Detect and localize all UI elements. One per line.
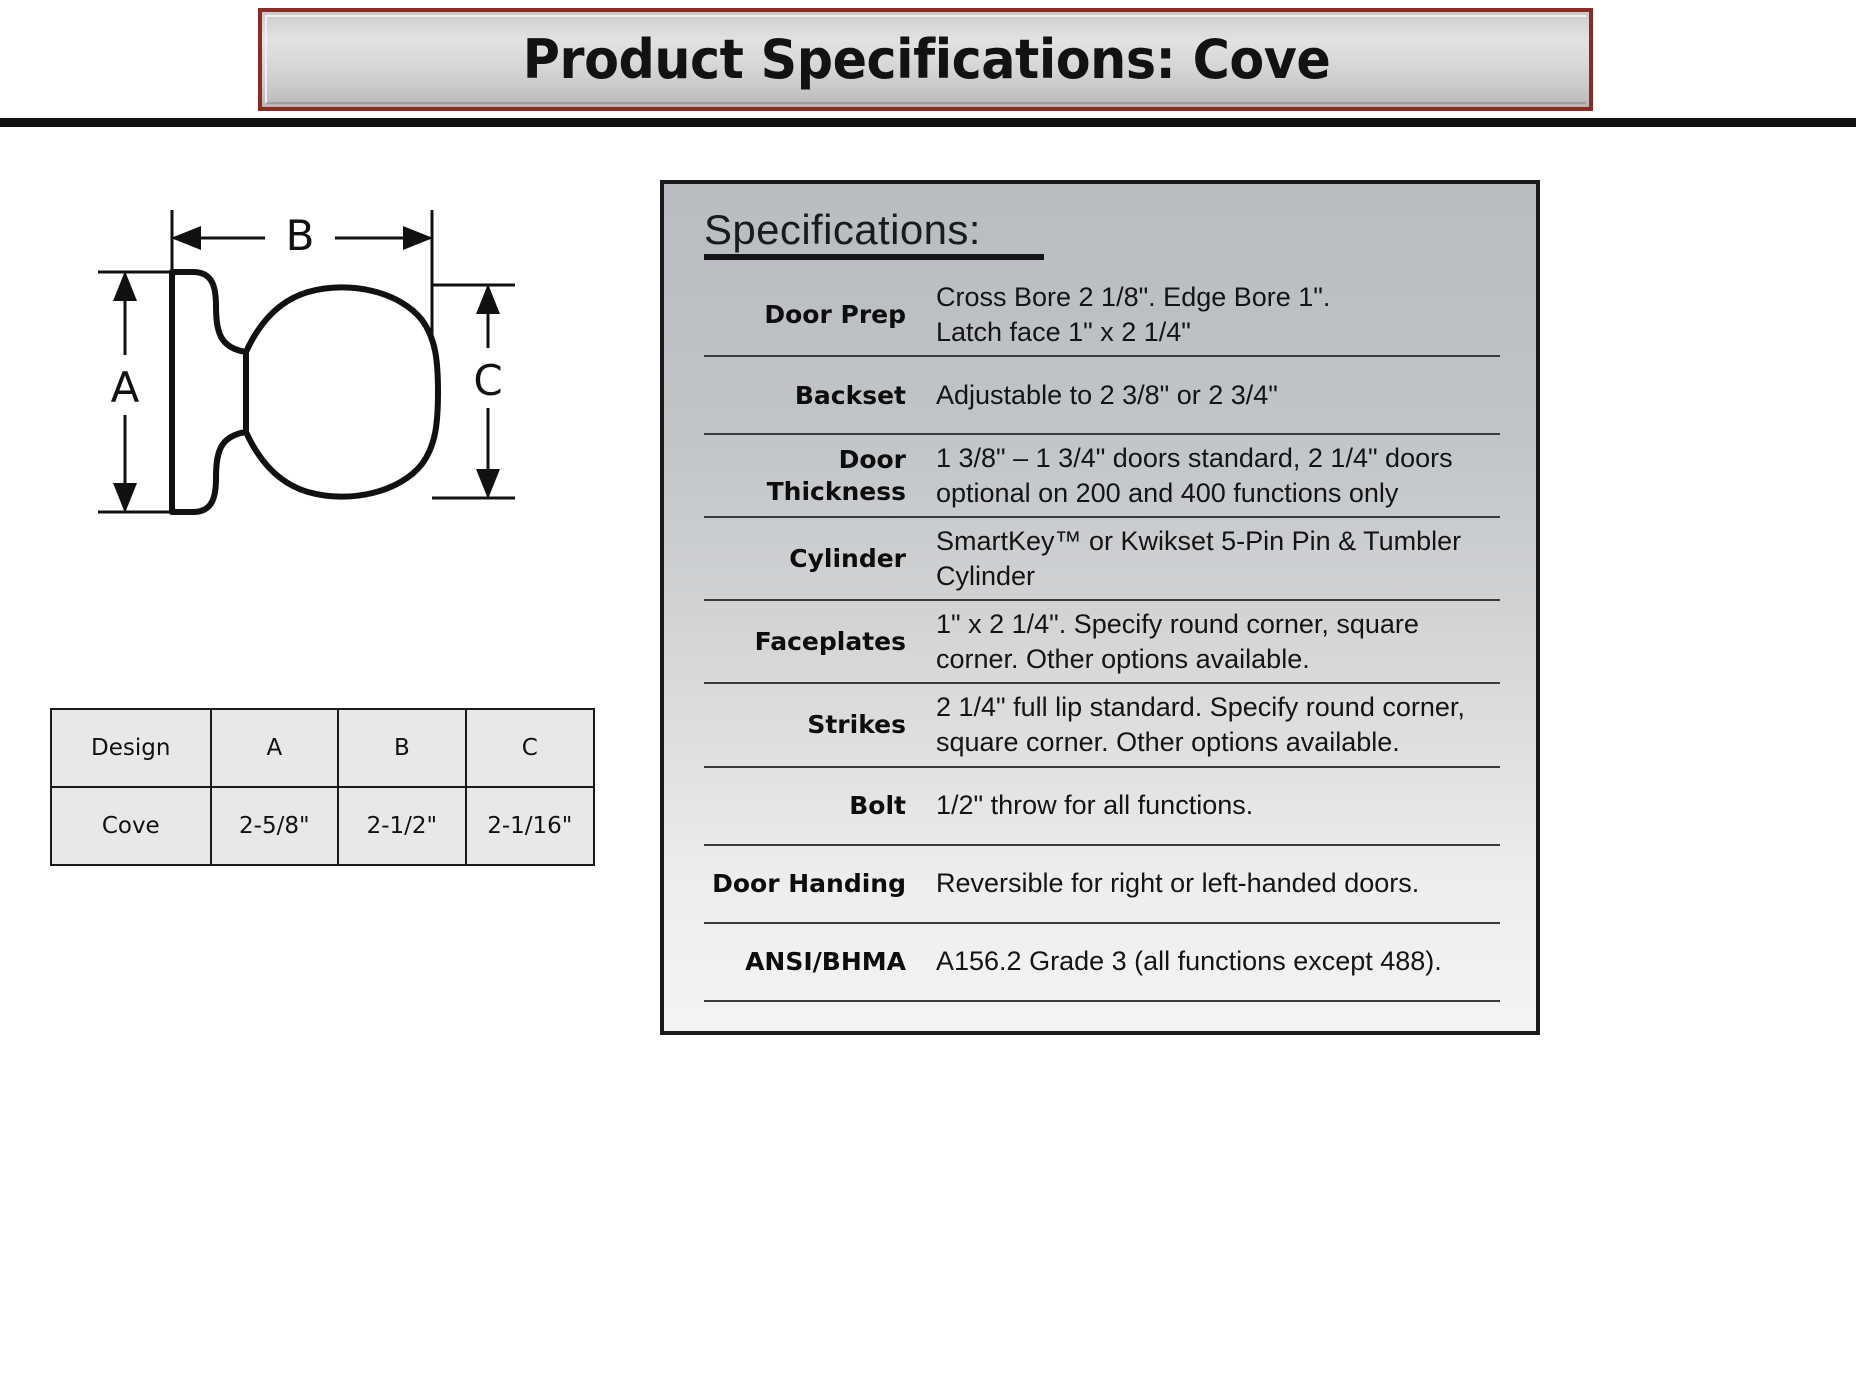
spec-row-door-handing: Door Handing Reversible for right or lef… xyxy=(704,846,1500,924)
column-header-c: C xyxy=(466,709,594,787)
table-header-row: Design A B C xyxy=(51,709,594,787)
spec-value: SmartKey™ or Kwikset 5-Pin Pin & Tumbler… xyxy=(936,524,1500,593)
spec-value: 1 3/8" – 1 3/4" doors standard, 2 1/4" d… xyxy=(936,441,1500,510)
spec-label: Strikes xyxy=(704,709,936,740)
spec-label: Door Handing xyxy=(704,868,936,899)
cell-dimension-b: 2-1/2" xyxy=(338,787,466,865)
cell-design-name: Cove xyxy=(51,787,211,865)
spec-row-strikes: Strikes 2 1/4" full lip standard. Specif… xyxy=(704,684,1500,767)
spec-label: ANSI/BHMA xyxy=(704,946,936,977)
spec-value: 1/2" throw for all functions. xyxy=(936,788,1500,823)
spec-row-bolt: Bolt 1/2" throw for all functions. xyxy=(704,768,1500,846)
dimension-c-group: C xyxy=(432,285,515,498)
spec-row-faceplates: Faceplates 1" x 2 1/4". Specify round co… xyxy=(704,601,1500,684)
spec-label: Cylinder xyxy=(704,543,936,574)
design-dimension-table: Design A B C Cove 2-5/8" 2-1/2" 2-1/16" xyxy=(50,708,595,866)
cell-dimension-c: 2-1/16" xyxy=(466,787,594,865)
spec-value: A156.2 Grade 3 (all functions except 488… xyxy=(936,944,1500,979)
spec-value: Reversible for right or left-handed door… xyxy=(936,866,1500,901)
column-header-a: A xyxy=(211,709,339,787)
title-banner-inner-bevel: Product Specifications: Cove xyxy=(265,15,1586,104)
spec-value: Adjustable to 2 3/8" or 2 3/4" xyxy=(936,378,1500,413)
spec-value: 1" x 2 1/4". Specify round corner, squar… xyxy=(936,607,1500,676)
spec-label: Faceplates xyxy=(704,626,936,657)
spec-row-door-thickness: Door Thickness 1 3/8" – 1 3/4" doors sta… xyxy=(704,435,1500,518)
spec-value: 2 1/4" full lip standard. Specify round … xyxy=(936,690,1500,759)
dimension-label-b: B xyxy=(286,211,315,260)
column-header-design: Design xyxy=(51,709,211,787)
dimension-b-group: B xyxy=(172,210,432,340)
title-banner-container: Product Specifications: Cove xyxy=(258,8,1593,111)
dimension-label-c: C xyxy=(473,356,502,405)
spec-label: Door Thickness xyxy=(704,444,936,507)
spec-value: Cross Bore 2 1/8". Edge Bore 1". Latch f… xyxy=(936,280,1500,349)
specifications-panel: Specifications: Door Prep Cross Bore 2 1… xyxy=(660,180,1540,1035)
spec-label: Backset xyxy=(704,380,936,411)
spec-row-ansi-bhma: ANSI/BHMA A156.2 Grade 3 (all functions … xyxy=(704,924,1500,1002)
knob-cross-section-diagram: B A C xyxy=(60,180,630,580)
knob-profile-outline xyxy=(172,272,438,512)
column-header-b: B xyxy=(338,709,466,787)
specifications-list: Door Prep Cross Bore 2 1/8". Edge Bore 1… xyxy=(704,274,1500,1001)
spec-label: Bolt xyxy=(704,790,936,821)
header-divider-rule xyxy=(0,118,1856,127)
spec-row-backset: Backset Adjustable to 2 3/8" or 2 3/4" xyxy=(704,357,1500,435)
dimension-a-group: A xyxy=(98,272,178,512)
dimension-label-a: A xyxy=(111,363,140,412)
specifications-heading: Specifications: xyxy=(704,208,1044,252)
spec-row-door-prep: Door Prep Cross Bore 2 1/8". Edge Bore 1… xyxy=(704,274,1500,357)
cell-dimension-a: 2-5/8" xyxy=(211,787,339,865)
spec-label: Door Prep xyxy=(704,299,936,330)
page-title: Product Specifications: Cove xyxy=(523,28,1331,91)
table-row: Cove 2-5/8" 2-1/2" 2-1/16" xyxy=(51,787,594,865)
spec-row-cylinder: Cylinder SmartKey™ or Kwikset 5-Pin Pin … xyxy=(704,518,1500,601)
specifications-heading-container: Specifications: xyxy=(704,208,1044,260)
title-banner: Product Specifications: Cove xyxy=(258,8,1593,111)
